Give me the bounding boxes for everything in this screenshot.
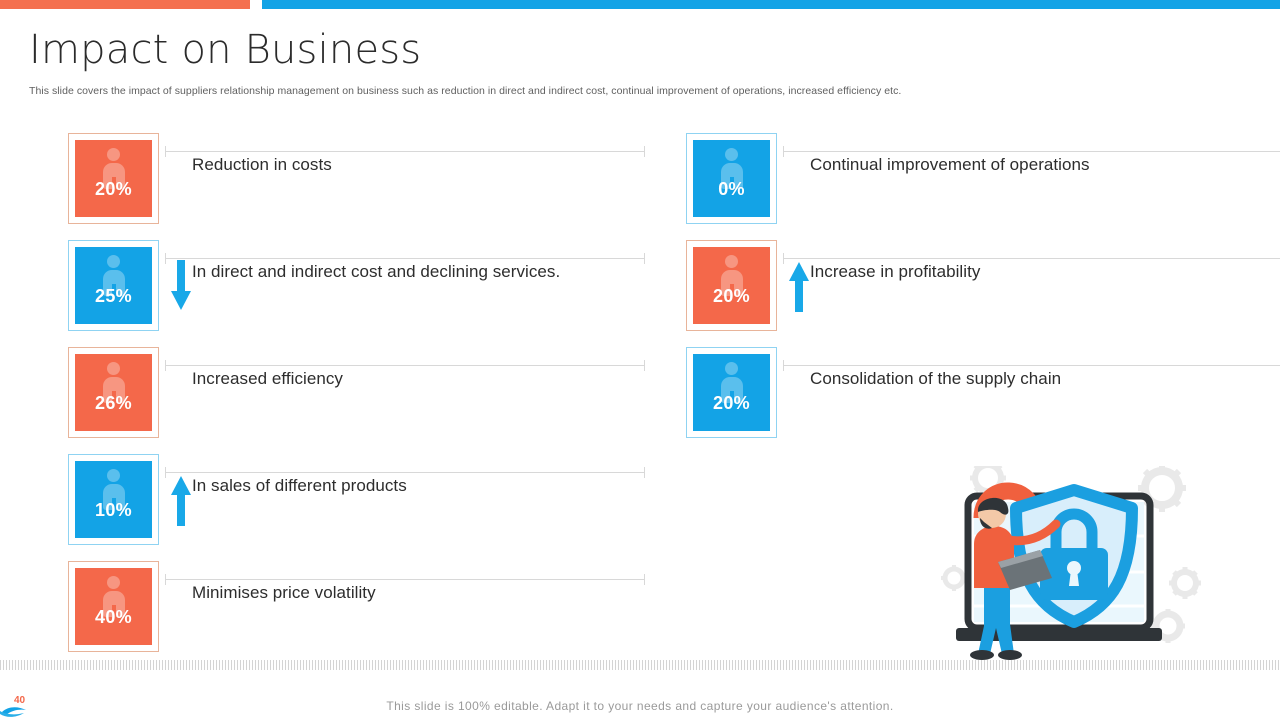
percent-card[interactable]: 25%	[68, 240, 159, 331]
percent-card[interactable]: 26%	[68, 347, 159, 438]
impact-row: 26%Increased efficiency	[68, 347, 580, 454]
impact-label: In direct and indirect cost and declinin…	[192, 262, 560, 282]
connector-rule	[165, 151, 645, 152]
arrow-up-icon	[786, 260, 812, 312]
percent-card[interactable]: 20%	[68, 133, 159, 224]
percent-value: 10%	[75, 500, 152, 521]
slide-root: Impact on Business This slide covers the…	[0, 0, 1280, 720]
impact-label: Increase in profitability	[810, 262, 980, 282]
left-column: 20%Reduction in costs25%In direct and in…	[68, 133, 580, 668]
impact-row: 40%Minimises price volatility	[68, 561, 580, 668]
connector-rule	[165, 579, 645, 580]
page-title: Impact on Business	[29, 29, 421, 71]
footer-note: This slide is 100% editable. Adapt it to…	[0, 699, 1280, 713]
percent-card-fill: 0%	[693, 140, 770, 217]
top-accent-bar-orange	[0, 0, 250, 9]
connector-rule	[165, 258, 645, 259]
impact-label: Increased efficiency	[192, 369, 343, 389]
impact-label: Reduction in costs	[192, 155, 332, 175]
gear-icon	[941, 565, 967, 591]
impact-label: Consolidation of the supply chain	[810, 369, 1061, 389]
connector-rule	[783, 258, 1280, 259]
impact-row: 0%Continual improvement of operations	[686, 133, 1198, 240]
laptop-security-shield-lock-illustration	[940, 466, 1210, 660]
percent-value: 20%	[75, 179, 152, 200]
right-column: 0%Continual improvement of operations20%…	[686, 133, 1198, 454]
percent-card-fill: 40%	[75, 568, 152, 645]
percent-value: 26%	[75, 393, 152, 414]
percent-card-fill: 20%	[693, 247, 770, 324]
impact-row: 20%Reduction in costs	[68, 133, 580, 240]
percent-value: 0%	[693, 179, 770, 200]
percent-card[interactable]: 10%	[68, 454, 159, 545]
arrow-down-icon	[168, 260, 194, 312]
impact-row: 10%In sales of different products	[68, 454, 580, 561]
connector-rule	[165, 472, 645, 473]
percent-card[interactable]: 0%	[686, 133, 777, 224]
percent-value: 20%	[693, 393, 770, 414]
percent-card-fill: 20%	[693, 354, 770, 431]
percent-card-fill: 10%	[75, 461, 152, 538]
impact-label: In sales of different products	[192, 476, 407, 496]
bottom-hatch-divider	[0, 660, 1280, 670]
gear-icon	[1169, 567, 1201, 599]
page-subtitle: This slide covers the impact of supplier…	[29, 85, 1219, 97]
percent-card-fill: 26%	[75, 354, 152, 431]
percent-card-fill: 25%	[75, 247, 152, 324]
top-accent-bar-blue	[262, 0, 1280, 9]
impact-row: 25%In direct and indirect cost and decli…	[68, 240, 580, 347]
percent-card-fill: 20%	[75, 140, 152, 217]
connector-rule	[783, 151, 1280, 152]
percent-value: 25%	[75, 286, 152, 307]
percent-value: 40%	[75, 607, 152, 628]
percent-card[interactable]: 20%	[686, 240, 777, 331]
percent-card[interactable]: 20%	[686, 347, 777, 438]
impact-label: Continual improvement of operations	[810, 155, 1090, 175]
arrow-up-icon	[168, 474, 194, 526]
connector-rule	[165, 365, 645, 366]
connector-rule	[783, 365, 1280, 366]
impact-row: 20%Increase in profitability	[686, 240, 1198, 347]
percent-value: 20%	[693, 286, 770, 307]
percent-card[interactable]: 40%	[68, 561, 159, 652]
impact-label: Minimises price volatility	[192, 583, 376, 603]
gear-icon	[1138, 466, 1186, 512]
impact-row: 20%Consolidation of the supply chain	[686, 347, 1198, 454]
